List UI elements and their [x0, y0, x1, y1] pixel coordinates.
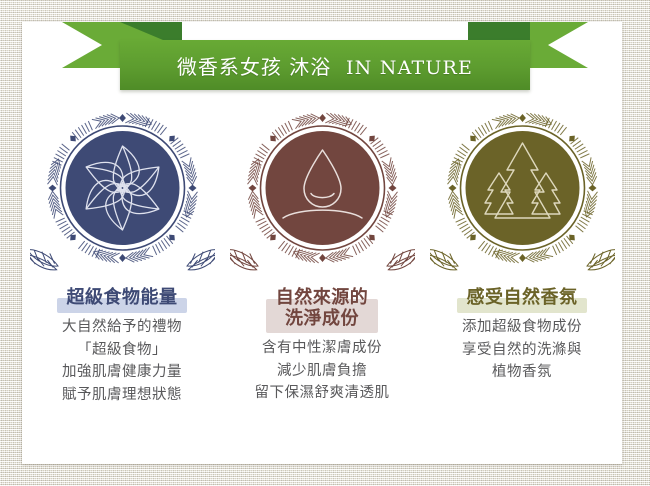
heading-superfood: 超級食物能量 [67, 287, 178, 308]
water-droplet-icon [230, 100, 415, 285]
pinwheel-star-flower-icon [30, 100, 215, 285]
heading-fragrance: 感受自然香氛 [467, 287, 578, 308]
heading-line: 感受自然香氛 [467, 287, 578, 308]
title-ribbon: 微香系女孩 沐浴 IN NATURE [0, 22, 650, 90]
ribbon-title-en: IN NATURE [346, 57, 473, 79]
body-line: 含有中性潔膚成份 [255, 337, 390, 359]
ribbon-title: 微香系女孩 沐浴 IN NATURE [177, 51, 473, 80]
heading-line: 洗淨成份 [276, 308, 369, 329]
poster-root: 微香系女孩 沐浴 IN NATURE [0, 0, 650, 486]
body-line: 留下保濕舒爽清透肌 [255, 382, 390, 404]
body-line: 減少肌膚負擔 [255, 360, 390, 382]
ribbon-main-band: 微香系女孩 沐浴 IN NATURE [120, 40, 530, 90]
body-cleansing: 含有中性潔膚成份 減少肌膚負擔 留下保濕舒爽清透肌 [255, 337, 390, 404]
natural-cleansing-emblem [230, 100, 415, 285]
heading-line: 自然來源的 [276, 287, 369, 308]
body-line: 植物香氛 [462, 361, 582, 383]
body-line: 添加超級食物成份 [462, 316, 582, 338]
body-line: 加強肌膚健康力量 [62, 361, 182, 383]
body-line: 享受自然的洗滌與 [462, 339, 582, 361]
body-line: 大自然給予的禮物 [62, 316, 182, 338]
feature-column-fragrance: 感受自然香氛 添加超級食物成份 享受自然的洗滌與 植物香氛 [422, 100, 622, 464]
heading-line: 超級食物能量 [67, 287, 178, 308]
natural-fragrance-emblem [430, 100, 615, 285]
feature-column-cleansing: 自然來源的 洗淨成份 含有中性潔膚成份 減少肌膚負擔 留下保濕舒爽清透肌 [222, 100, 422, 464]
pine-trees-icon [430, 100, 615, 285]
superfood-flower-emblem [30, 100, 215, 285]
feature-column-superfood: 超級食物能量 大自然給予的禮物 「超級食物」 加強肌膚健康力量 賦予肌膚理想狀態 [22, 100, 222, 464]
heading-cleansing: 自然來源的 洗淨成份 [276, 287, 369, 329]
feature-columns: 超級食物能量 大自然給予的禮物 「超級食物」 加強肌膚健康力量 賦予肌膚理想狀態 [22, 100, 622, 464]
ribbon-title-cjk: 微香系女孩 沐浴 [177, 55, 331, 79]
body-line: 賦予肌膚理想狀態 [62, 384, 182, 406]
body-line: 「超級食物」 [62, 339, 182, 361]
body-fragrance: 添加超級食物成份 享受自然的洗滌與 植物香氛 [462, 316, 582, 383]
body-superfood: 大自然給予的禮物 「超級食物」 加強肌膚健康力量 賦予肌膚理想狀態 [62, 316, 182, 406]
